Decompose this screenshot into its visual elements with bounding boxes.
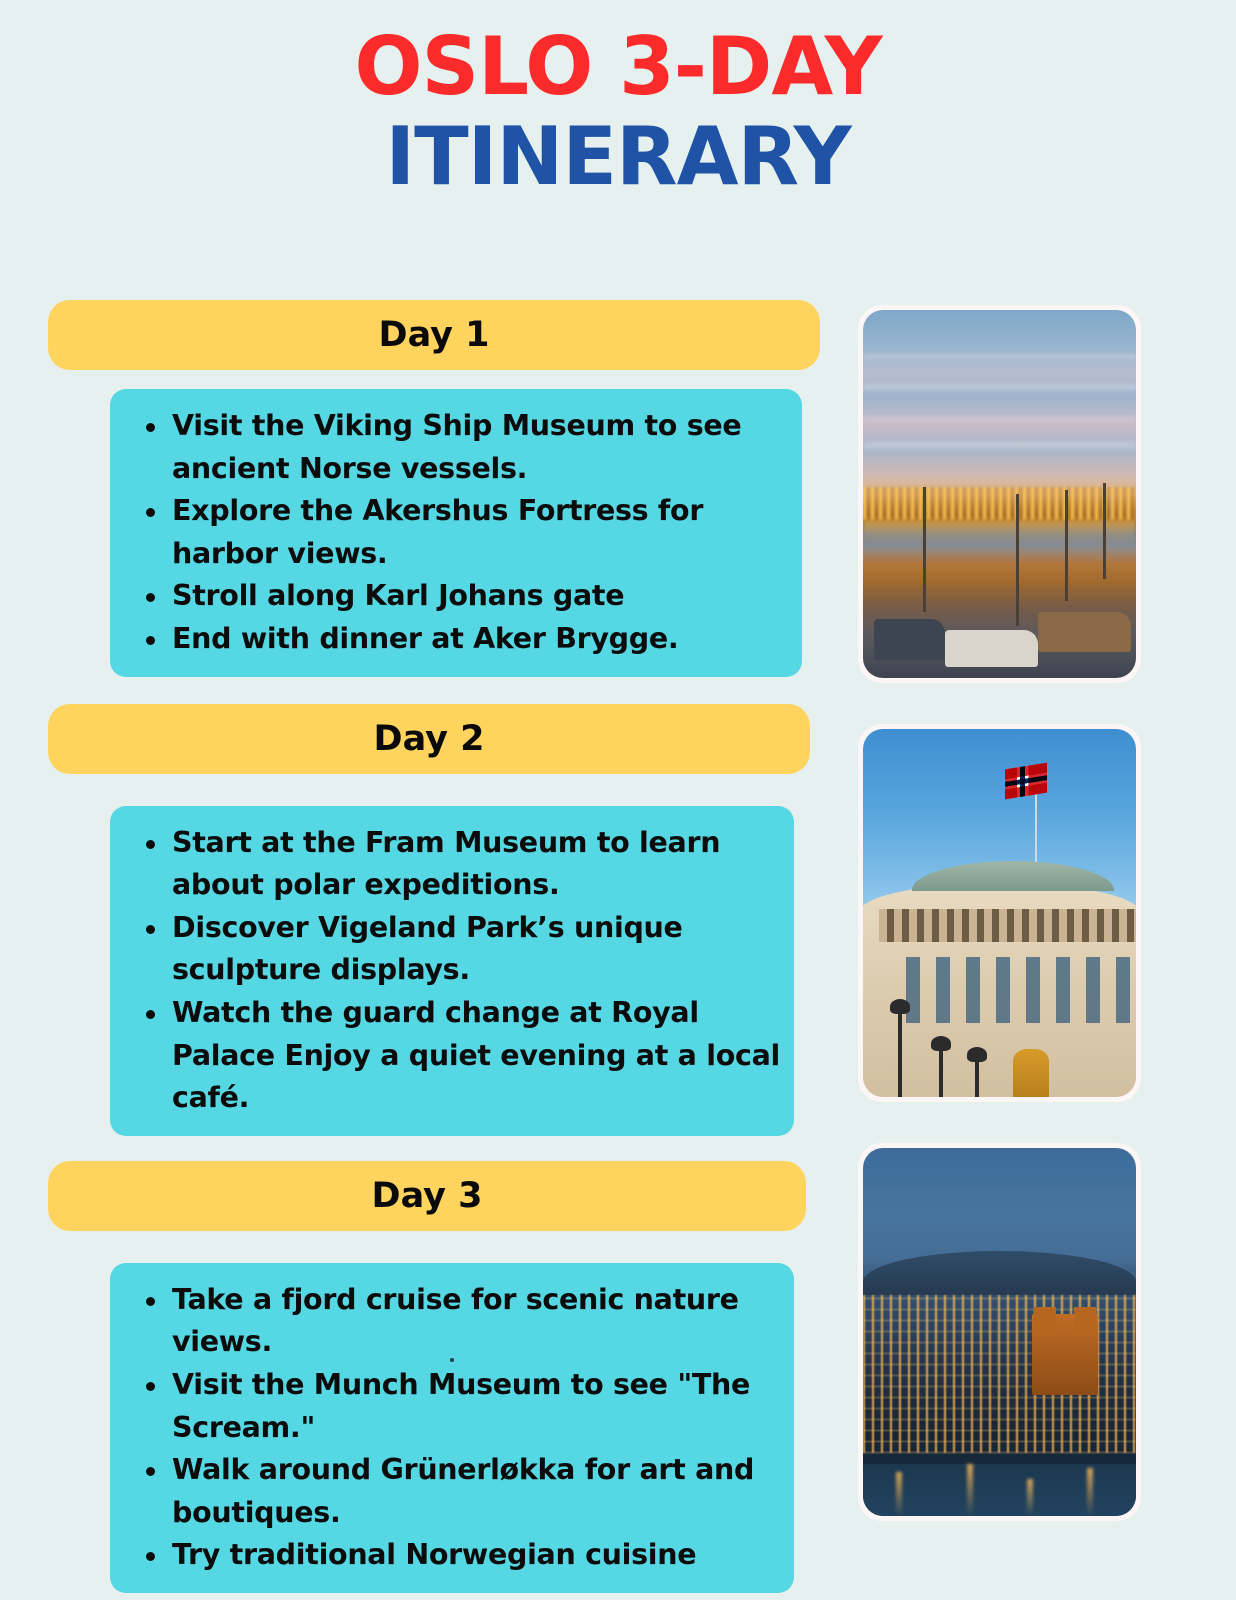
title-line-secondary: ITINERARY [0, 112, 1236, 202]
oslo-skyline-night-image [863, 1148, 1136, 1516]
list-item: Watch the guard change at Royal Palace E… [124, 992, 782, 1120]
day-list-3: Take a fjord cruise for scenic nature vi… [124, 1279, 782, 1577]
title-line-primary: OSLO 3-DAY [0, 22, 1236, 112]
day-section-2: Day 2 Start at the Fram Museum to learn … [0, 704, 860, 1136]
list-item: Explore the Akershus Fortress for harbor… [124, 490, 790, 575]
stray-dot-artifact [450, 1358, 454, 1362]
oslo-harbour-sunset-image [863, 310, 1136, 678]
days-column: Day 1 Visit the Viking Ship Museum to se… [0, 300, 860, 1593]
day-header-label-3: Day 3 [372, 1176, 483, 1216]
day-card-2: Start at the Fram Museum to learn about … [110, 806, 794, 1136]
list-item: Start at the Fram Museum to learn about … [124, 822, 782, 907]
norwegian-parliament-image [863, 729, 1136, 1097]
poster-title: OSLO 3-DAY ITINERARY [0, 0, 1236, 201]
day-header-1: Day 1 [48, 300, 820, 370]
list-item: Visit the Viking Ship Museum to see anci… [124, 405, 790, 490]
list-item: Stroll along Karl Johans gate [124, 575, 790, 618]
day-list-1: Visit the Viking Ship Museum to see anci… [124, 405, 790, 661]
list-item: Visit the Munch Museum to see "The Screa… [124, 1364, 782, 1449]
list-item: Take a fjord cruise for scenic nature vi… [124, 1279, 782, 1364]
list-item: End with dinner at Aker Brygge. [124, 618, 790, 661]
list-item: Try traditional Norwegian cuisine [124, 1534, 782, 1577]
day-section-3: Day 3 Take a fjord cruise for scenic nat… [0, 1161, 860, 1593]
photo-frame-night-skyline [858, 1143, 1141, 1521]
day-card-3: Take a fjord cruise for scenic nature vi… [110, 1263, 794, 1593]
norwegian-flag-icon [1005, 762, 1047, 799]
photo-frame-parliament [858, 724, 1141, 1102]
day-header-label-2: Day 2 [374, 719, 485, 759]
day-card-1: Visit the Viking Ship Museum to see anci… [110, 389, 802, 677]
photo-frame-harbour [858, 305, 1141, 683]
day-list-2: Start at the Fram Museum to learn about … [124, 822, 782, 1120]
list-item: Discover Vigeland Park’s unique sculptur… [124, 907, 782, 992]
day-section-1: Day 1 Visit the Viking Ship Museum to se… [0, 300, 860, 677]
day-header-label-1: Day 1 [379, 315, 490, 355]
day-header-2: Day 2 [48, 704, 810, 774]
list-item: Walk around Grünerløkka for art and bout… [124, 1449, 782, 1534]
photos-column [858, 305, 1158, 1521]
day-header-3: Day 3 [48, 1161, 806, 1231]
